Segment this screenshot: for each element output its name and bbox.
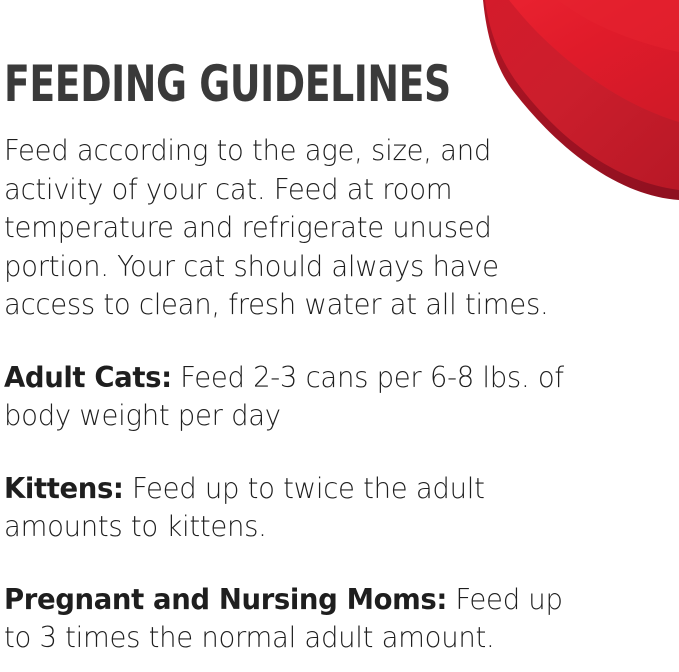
panel-content: FEEDING GUIDELINES Feed according to the… [4,0,679,672]
guideline-adult-cats: Adult Cats: Feed 2-3 cans per 6-8 lbs. o… [4,359,583,436]
intro-paragraph: Feed according to the age, size, and act… [4,132,583,325]
guideline-lead-in-kittens: Kittens: [4,472,124,505]
guideline-lead-in-adult-cats: Adult Cats: [4,361,172,394]
page-title: FEEDING GUIDELINES [4,58,571,110]
guideline-pregnant-nursing-moms: Pregnant and Nursing Moms: Feed up to 3 … [4,581,583,658]
guideline-kittens: Kittens: Feed up to twice the adult amou… [4,470,583,547]
feeding-guidelines-panel: FEEDING GUIDELINES Feed according to the… [0,0,679,672]
guideline-lead-in-pregnant-nursing-moms: Pregnant and Nursing Moms: [4,583,447,616]
